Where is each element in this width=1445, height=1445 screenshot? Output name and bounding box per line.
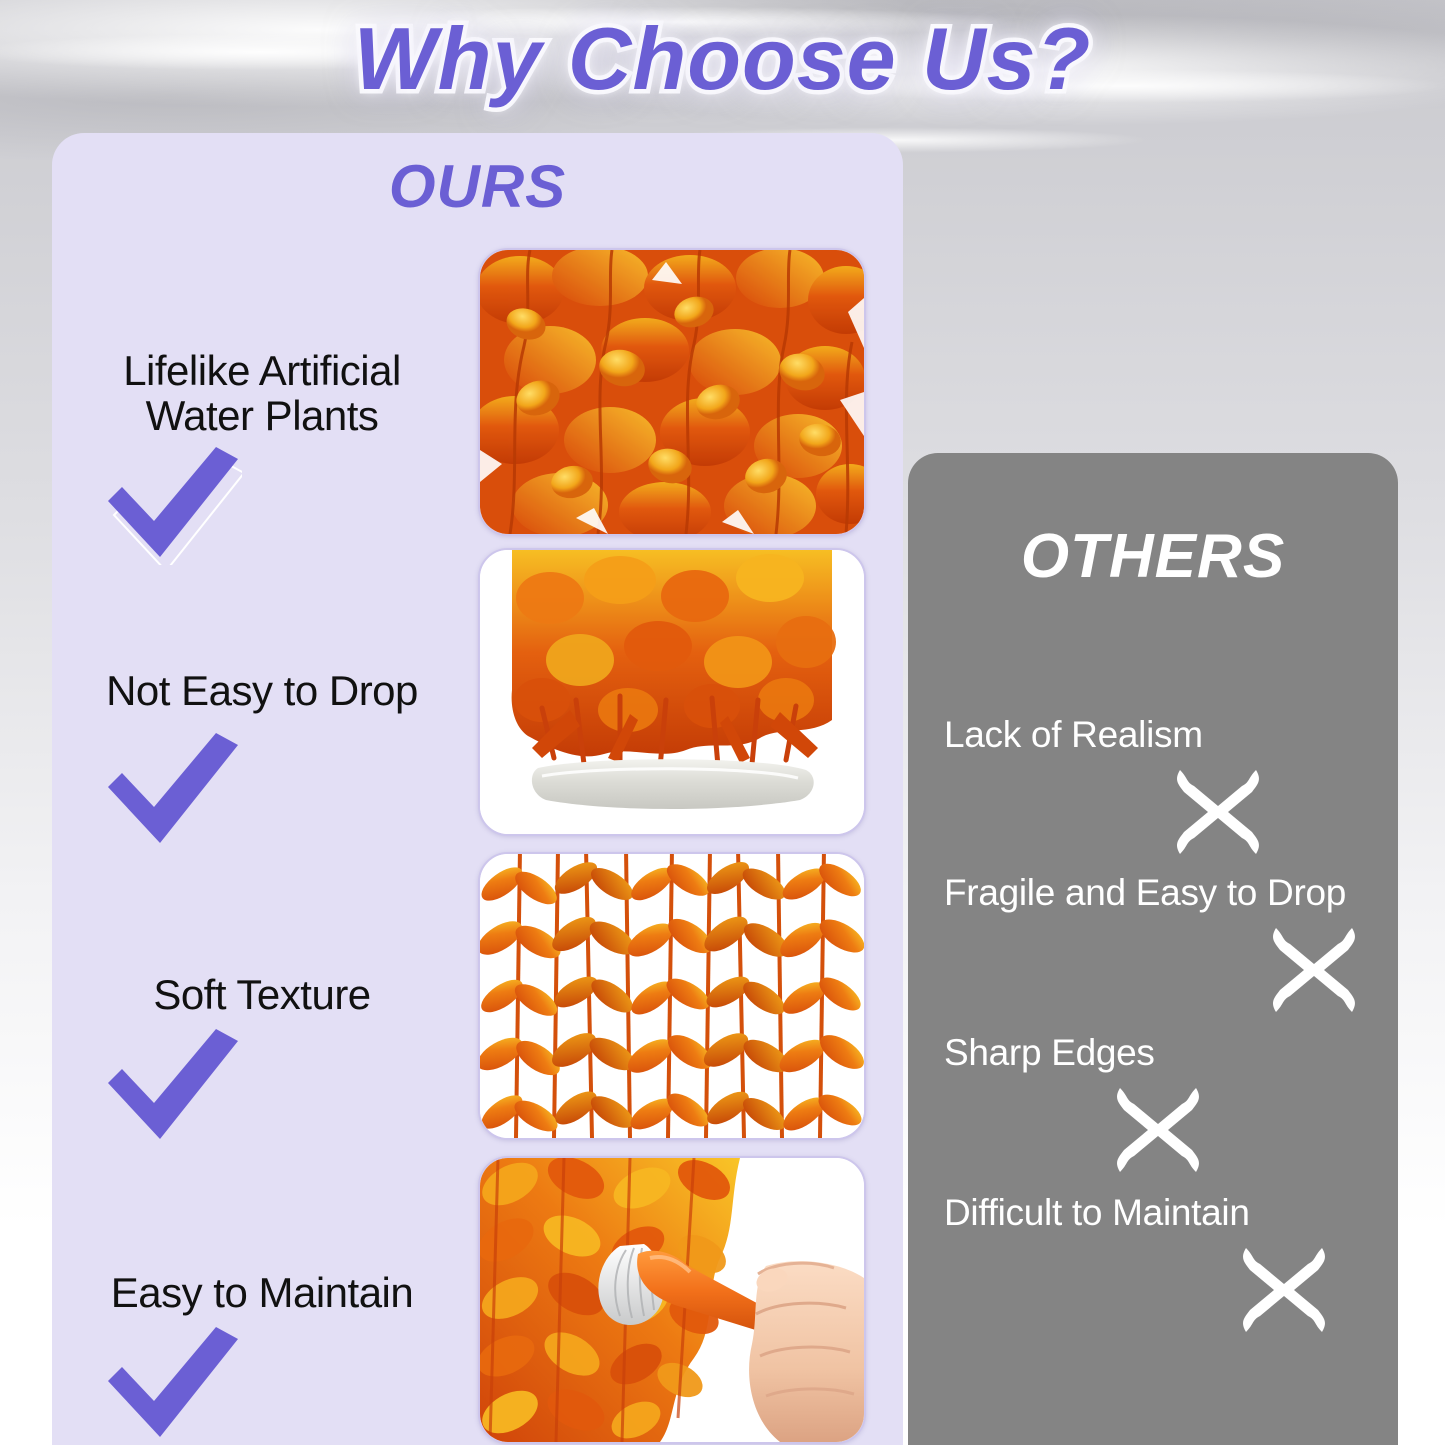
photo-1-art — [480, 250, 864, 534]
product-photo-3 — [478, 852, 866, 1140]
cross-icon — [1266, 922, 1362, 1018]
check-icon — [92, 1027, 242, 1147]
product-photo-1 — [478, 248, 866, 536]
check-icon — [92, 1325, 242, 1445]
feature-label-1-line1: Lifelike Artificial — [52, 348, 472, 393]
photo-3-art — [480, 854, 864, 1138]
feature-row-1: Lifelike Artificial Water Plants — [52, 348, 472, 565]
feature-row-3: Soft Texture — [52, 972, 472, 1147]
photo-2-art — [480, 550, 864, 834]
others-heading: OTHERS — [908, 521, 1398, 592]
con-label-1: Lack of Realism — [944, 714, 1266, 756]
con-label-3: Sharp Edges — [944, 1032, 1206, 1074]
con-row-3: Sharp Edges — [944, 1032, 1206, 1178]
feature-label-1-line2: Water Plants — [52, 393, 472, 438]
con-row-1: Lack of Realism — [944, 714, 1266, 860]
photo-4-art — [480, 1158, 864, 1442]
con-label-4: Difficult to Maintain — [944, 1192, 1332, 1234]
feature-row-2: Not Easy to Drop — [52, 668, 472, 851]
page-title: Why Choose Us? — [0, 8, 1445, 110]
con-row-2: Fragile and Easy to Drop — [944, 872, 1362, 1018]
feature-label-3-line1: Soft Texture — [52, 972, 472, 1017]
con-row-4: Difficult to Maintain — [944, 1192, 1332, 1338]
product-photo-4 — [478, 1156, 866, 1444]
ours-heading: OURS — [52, 152, 903, 221]
cross-icon — [1236, 1242, 1332, 1338]
check-icon — [92, 445, 242, 565]
feature-label-2-line1: Not Easy to Drop — [52, 668, 472, 713]
product-photo-2 — [478, 548, 866, 836]
infographic-root: Why Choose Us? OURS Lifelike Artificial … — [0, 0, 1445, 1445]
cross-icon — [1110, 1082, 1206, 1178]
con-label-2: Fragile and Easy to Drop — [944, 872, 1362, 914]
feature-row-4: Easy to Maintain — [52, 1270, 472, 1445]
feature-label-4-line1: Easy to Maintain — [52, 1270, 472, 1315]
check-icon — [92, 731, 242, 851]
cross-icon — [1170, 764, 1266, 860]
